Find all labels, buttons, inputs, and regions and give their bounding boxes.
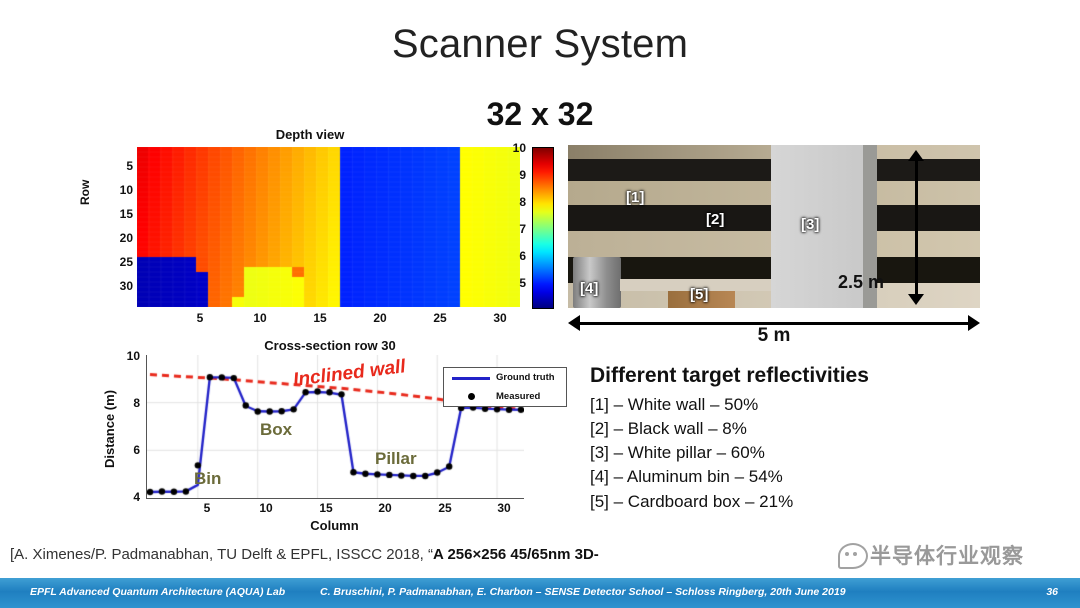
photo-label-2: [2] <box>706 211 724 228</box>
reflectivity-item: [2] – Black wall – 8% <box>590 417 1020 441</box>
depth-ytick: 15 <box>93 207 133 221</box>
cs-xtick: 10 <box>251 501 281 515</box>
depth-xtick: 25 <box>425 311 455 325</box>
footer-bar: EPFL Advanced Quantum Architecture (AQUA… <box>0 578 1080 608</box>
cs-xtick: 20 <box>370 501 400 515</box>
depth-xtick: 10 <box>245 311 275 325</box>
photo-label-4: [4] <box>580 280 598 297</box>
photo-label-1: [1] <box>626 189 644 206</box>
colorbar-tick: 8 <box>504 195 526 209</box>
depth-xtick: 30 <box>485 311 515 325</box>
footer-page-number: 36 <box>1046 586 1058 598</box>
cs-ytick: 6 <box>110 443 140 457</box>
citation-bold: A 256×256 45/65nm 3D- <box>433 546 599 563</box>
colorbar-tick: 9 <box>504 168 526 182</box>
annotation-box: Box <box>260 420 292 440</box>
reflectivities-heading: Different target reflectivities <box>590 364 1020 388</box>
cross-section-plot-area: Bin Box Pillar Inclined wall Ground trut… <box>146 355 524 499</box>
height-dimension-label: 2.5 m <box>838 272 884 293</box>
width-dimension-label: 5 m <box>568 325 980 347</box>
depth-colorbar <box>532 147 554 309</box>
legend-label: Measured <box>496 391 540 402</box>
cs-xtick: 30 <box>489 501 519 515</box>
cs-xtick: 15 <box>311 501 341 515</box>
depth-heatmap-canvas <box>137 147 520 307</box>
footer-left-text: EPFL Advanced Quantum Architecture (AQUA… <box>30 586 285 598</box>
cs-ytick: 8 <box>110 396 140 410</box>
photo-label-5: [5] <box>690 286 708 303</box>
depth-chart-title: Depth view <box>100 127 520 142</box>
cross-section-title: Cross-section row 30 <box>130 338 530 353</box>
cs-xtick: 5 <box>192 501 222 515</box>
reflectivity-item: [4] – Aluminum bin – 54% <box>590 465 1020 489</box>
depth-ytick: 30 <box>93 279 133 293</box>
depth-xtick: 15 <box>305 311 335 325</box>
legend-line-swatch <box>452 377 490 380</box>
colorbar-tick: 10 <box>504 141 526 155</box>
arrow-down-icon <box>908 294 924 305</box>
depth-xtick: 20 <box>365 311 395 325</box>
reflectivity-item: [5] – Cardboard box – 21% <box>590 490 1020 514</box>
dimension-line <box>915 158 918 297</box>
depth-ytick: 5 <box>93 159 133 173</box>
slide-root: Scanner System 32 x 32 Depth view Row 5 … <box>0 0 1080 608</box>
depth-xtick: 5 <box>185 311 215 325</box>
speech-bubble-icon <box>838 543 868 569</box>
cs-ytick: 10 <box>110 349 140 363</box>
colorbar-tick: 7 <box>504 222 526 236</box>
cross-section-x-axis-label: Column <box>146 518 523 533</box>
cs-xtick: 25 <box>430 501 460 515</box>
cross-section-chart: Cross-section row 30 Distance (m) Column… <box>100 338 540 538</box>
legend-label: Ground truth <box>496 372 555 383</box>
depth-heatmap <box>137 147 520 307</box>
colorbar-tick: 5 <box>504 276 526 290</box>
depth-view-chart: Depth view Row 5 10 15 20 25 30 5 10 15 … <box>100 127 555 337</box>
depth-y-axis-label: Row <box>78 180 92 205</box>
legend-item-ground-truth: Ground truth <box>444 368 566 387</box>
colorbar-tick: 6 <box>504 249 526 263</box>
annotation-pillar: Pillar <box>375 449 417 469</box>
watermark: 半导体行业观察 <box>838 540 1068 574</box>
reflectivity-item: [1] – White wall – 50% <box>590 393 1020 417</box>
citation-prefix: [A. Ximenes/P. Padmanabhan, TU Delft & E… <box>10 546 433 563</box>
footer-center-text: C. Bruschini, P. Padmanabhan, E. Charbon… <box>320 586 846 598</box>
depth-ytick: 10 <box>93 183 133 197</box>
annotation-bin: Bin <box>194 469 221 489</box>
legend-dot-swatch <box>468 393 475 400</box>
reflectivities-block: Different target reflectivities [1] – Wh… <box>590 364 1020 514</box>
height-dimension-arrow <box>906 150 926 305</box>
cs-ytick: 4 <box>110 490 140 504</box>
reflectivity-item: [3] – White pillar – 60% <box>590 441 1020 465</box>
legend-item-measured: Measured <box>444 387 566 406</box>
watermark-text: 半导体行业观察 <box>870 540 1024 570</box>
cross-section-legend: Ground truth Measured <box>443 367 567 407</box>
depth-ytick: 20 <box>93 231 133 245</box>
page-title: Scanner System <box>0 22 1080 67</box>
photo-label-3: [3] <box>801 216 819 233</box>
depth-ytick: 25 <box>93 255 133 269</box>
